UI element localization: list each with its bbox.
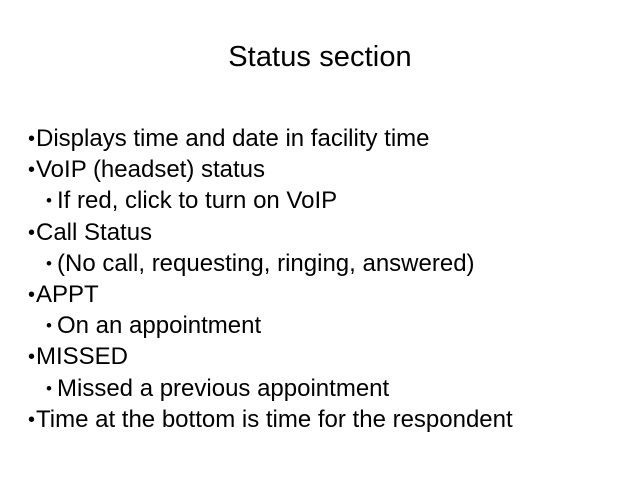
sub-bullet-item-label: Missed a previous appointment: [57, 375, 389, 402]
bullet-item: •APPT: [28, 280, 628, 311]
sub-bullet-item: •If red, click to turn on VoIP: [28, 186, 628, 217]
slide-body-bullet-list: •Displays time and date in facility time…: [28, 124, 628, 436]
sub-bullet-item-label: (No call, requesting, ringing, answered): [57, 250, 475, 277]
bullet-item: •Call Status: [28, 218, 628, 249]
bullet-item: •Displays time and date in facility time: [28, 124, 628, 155]
bullet-point-icon: •: [28, 219, 36, 248]
bullet-item-label: Displays time and date in facility time: [36, 125, 430, 152]
sub-bullet-item: •On an appointment: [28, 311, 628, 342]
bullet-item: •VoIP (headset) status: [28, 155, 628, 186]
bullet-item-label: Time at the bottom is time for the respo…: [36, 406, 513, 433]
sub-bullet-item: •Missed a previous appointment: [28, 374, 628, 405]
bullet-point-icon: •: [28, 406, 36, 435]
bullet-point-icon: •: [28, 281, 36, 310]
bullet-item: •Time at the bottom is time for the resp…: [28, 405, 628, 436]
bullet-point-icon: •: [28, 343, 36, 372]
bullet-point-icon: •: [46, 186, 54, 215]
bullet-item-label: APPT: [36, 281, 99, 308]
bullet-point-icon: •: [28, 156, 36, 185]
bullet-point-icon: •: [46, 311, 54, 340]
sub-bullet-item: •(No call, requesting, ringing, answered…: [28, 249, 628, 280]
bullet-item-label: MISSED: [36, 343, 128, 370]
slide-title: Status section: [0, 40, 640, 74]
sub-bullet-item-label: If red, click to turn on VoIP: [57, 187, 337, 214]
bullet-point-icon: •: [46, 374, 54, 403]
bullet-point-icon: •: [46, 249, 54, 278]
bullet-item-label: VoIP (headset) status: [36, 156, 265, 183]
presentation-slide: Status section •Displays time and date i…: [0, 0, 640, 480]
sub-bullet-item-label: On an appointment: [57, 312, 261, 339]
bullet-point-icon: •: [28, 125, 36, 154]
bullet-item-label: Call Status: [36, 219, 152, 246]
bullet-item: •MISSED: [28, 342, 628, 373]
